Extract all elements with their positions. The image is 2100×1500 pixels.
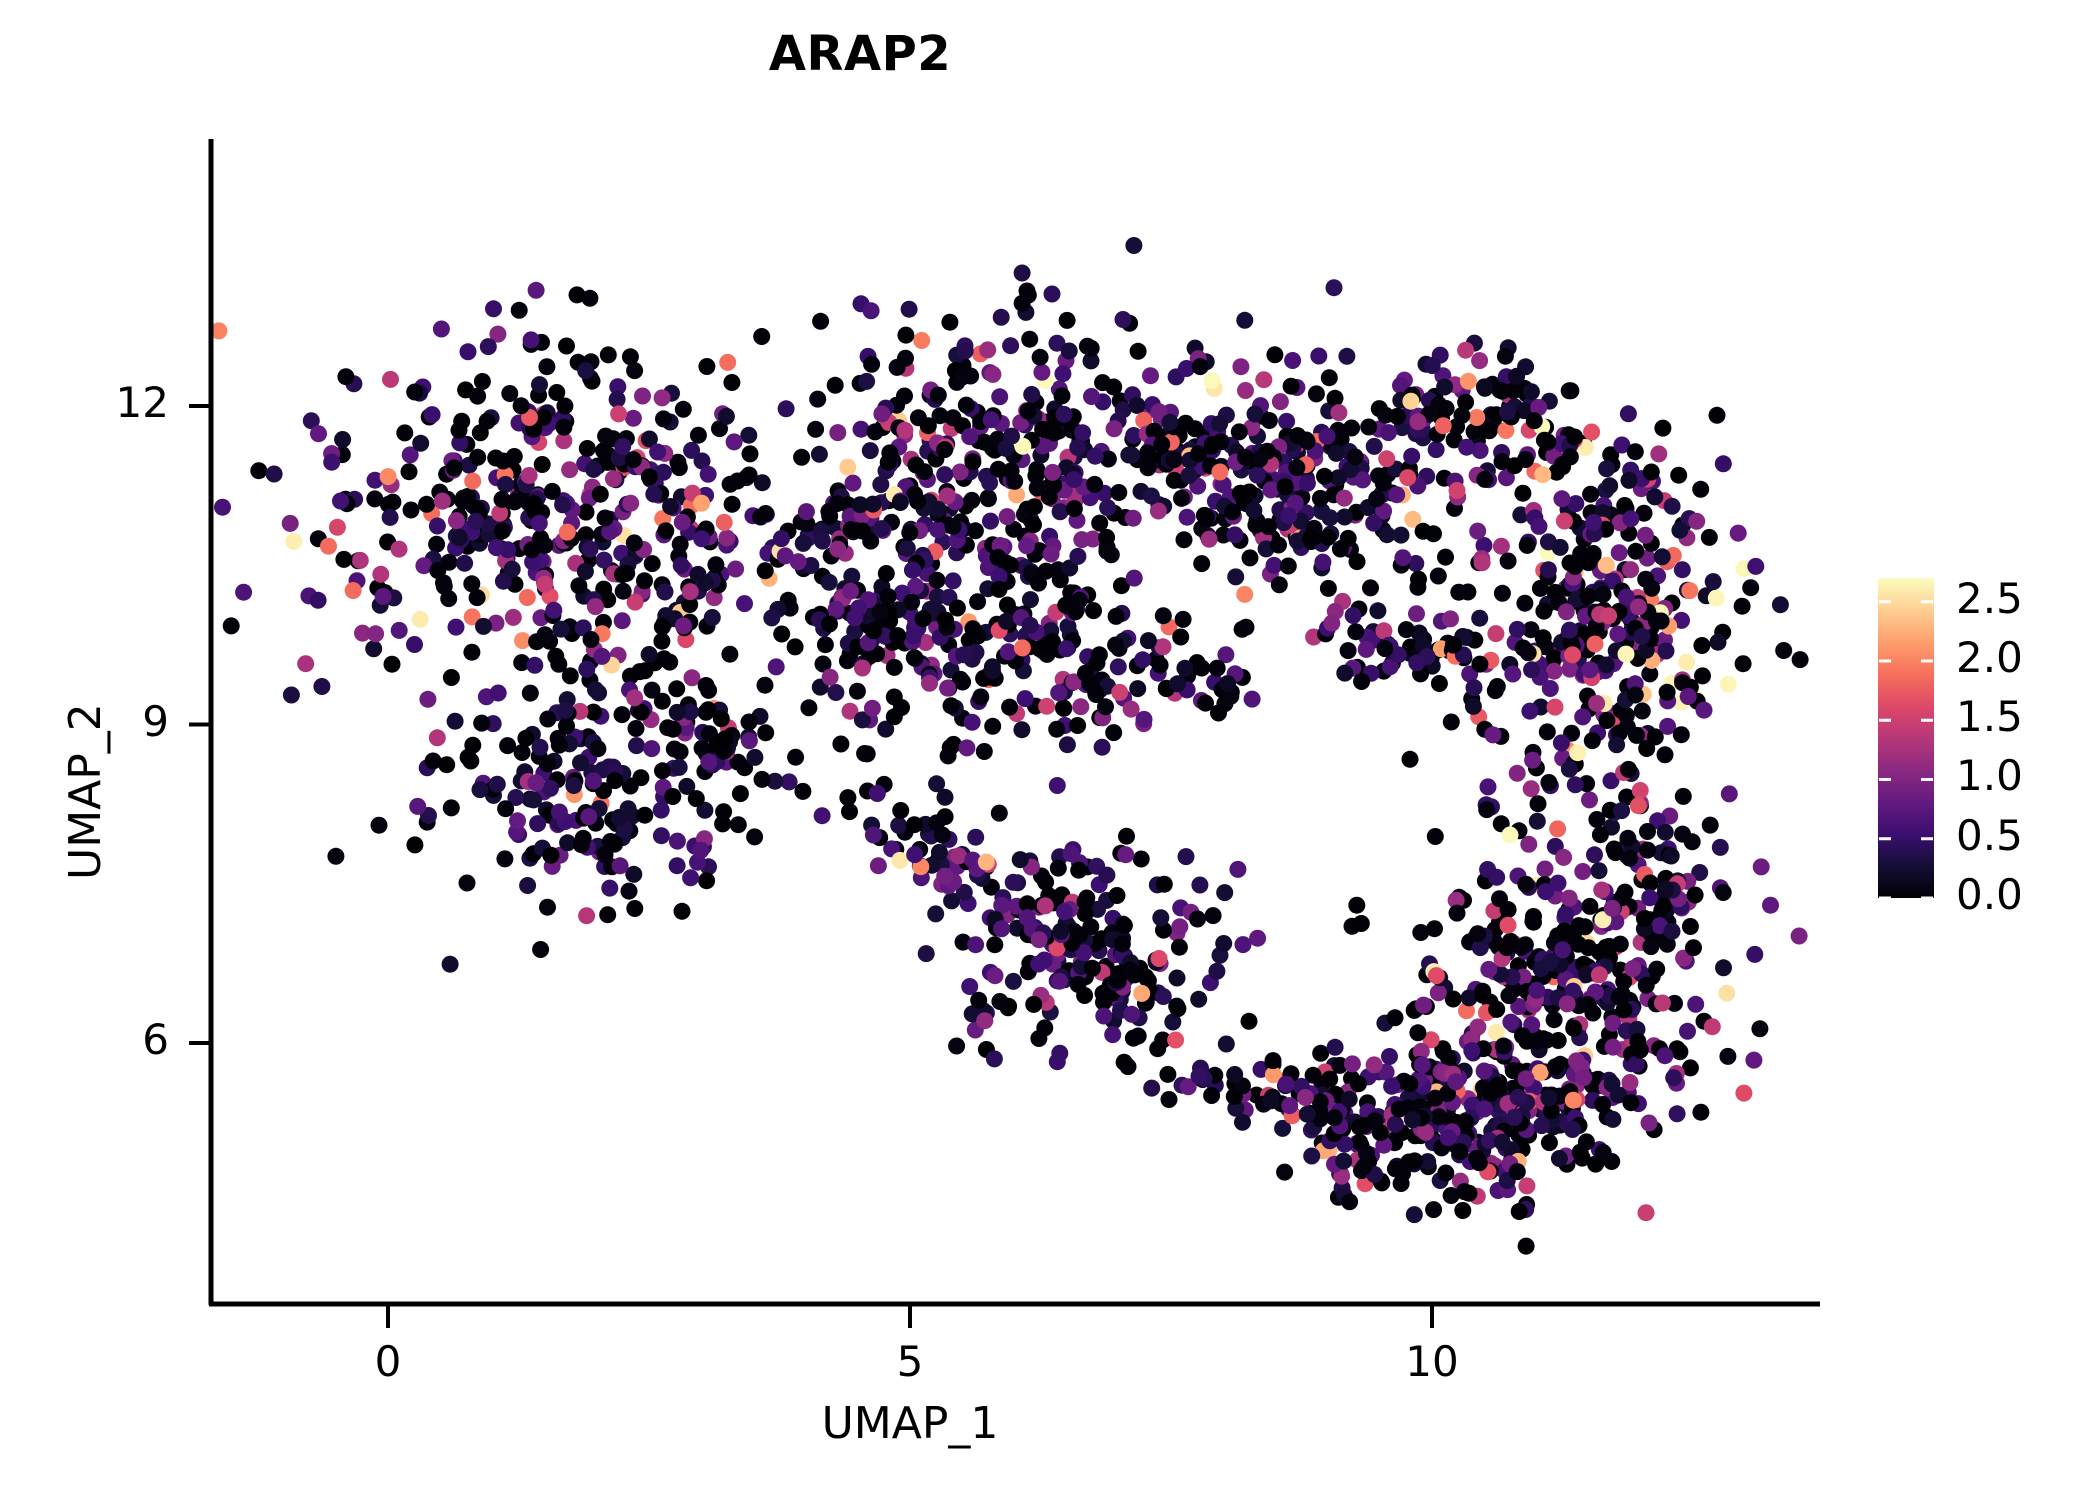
scatter-point — [682, 869, 699, 886]
scatter-point — [649, 444, 666, 461]
scatter-point — [1586, 846, 1603, 863]
scatter-point — [473, 715, 490, 732]
scatter-point — [897, 327, 914, 344]
scatter-point — [1437, 549, 1454, 566]
scatter-point — [587, 598, 604, 615]
scatter-point — [1299, 1106, 1316, 1123]
scatter-point — [863, 356, 880, 373]
scatter-point — [297, 655, 314, 672]
scatter-point — [1459, 584, 1476, 601]
scatter-point — [665, 721, 682, 738]
scatter-point — [513, 397, 530, 414]
scatter-point — [878, 565, 895, 582]
scatter-point — [489, 776, 506, 793]
scatter-point — [1604, 900, 1621, 917]
scatter-point — [940, 747, 957, 764]
scatter-point — [1191, 1068, 1208, 1085]
scatter-point — [460, 343, 477, 360]
scatter-point — [614, 438, 631, 455]
scatter-point — [1712, 839, 1729, 856]
scatter-point — [1479, 861, 1496, 878]
scatter-point — [506, 448, 523, 465]
scatter-point — [310, 425, 327, 442]
scatter-point — [1288, 459, 1305, 476]
scatter-point — [886, 689, 903, 706]
scatter-point — [688, 790, 705, 807]
scatter-point — [736, 595, 753, 612]
scatter-point — [632, 769, 649, 786]
scatter-point — [757, 677, 774, 694]
scatter-point — [538, 358, 555, 375]
scatter-point — [672, 536, 689, 553]
scatter-point — [313, 678, 330, 695]
scatter-point — [790, 553, 807, 570]
scatter-point — [572, 754, 589, 771]
scatter-point — [412, 611, 429, 628]
scatter-point — [1693, 637, 1710, 654]
scatter-point — [1066, 471, 1083, 488]
scatter-point — [1641, 889, 1658, 906]
scatter-point — [631, 663, 648, 680]
scatter-point — [662, 498, 679, 515]
scatter-point — [558, 338, 575, 355]
scatter-point — [1476, 378, 1493, 395]
scatter-point — [1408, 654, 1425, 671]
scatter-point — [821, 574, 838, 591]
scatter-point — [1657, 881, 1674, 898]
scatter-point — [896, 422, 913, 439]
scatter-point — [419, 691, 436, 708]
scatter-point — [1604, 1111, 1621, 1128]
scatter-point — [814, 807, 831, 824]
scatter-point — [839, 789, 856, 806]
scatter-point — [1530, 795, 1547, 812]
scatter-point — [1000, 643, 1017, 660]
scatter-point — [1341, 1091, 1358, 1108]
scatter-point — [1718, 985, 1735, 1002]
scatter-point — [690, 427, 707, 444]
scatter-point — [829, 424, 846, 441]
scatter-point — [1332, 541, 1349, 558]
scatter-point — [1485, 726, 1502, 743]
scatter-point — [1235, 936, 1252, 953]
scatter-point — [870, 857, 887, 874]
scatter-point — [583, 631, 600, 648]
scatter-point — [1425, 525, 1442, 542]
scatter-point — [569, 286, 586, 303]
scatter-point — [987, 967, 1004, 984]
scatter-point — [1211, 415, 1228, 432]
scatter-point — [1425, 1201, 1442, 1218]
scatter-point — [999, 508, 1016, 525]
scatter-point — [1152, 909, 1169, 926]
scatter-point — [610, 405, 627, 422]
scatter-point — [1347, 623, 1364, 640]
scatter-point — [525, 791, 542, 808]
scatter-point — [1762, 897, 1779, 914]
scatter-point — [1265, 1052, 1282, 1069]
scatter-point — [1673, 726, 1690, 743]
scatter-point — [1593, 882, 1610, 899]
scatter-point — [1261, 412, 1278, 429]
scatter-point — [945, 572, 962, 589]
scatter-point — [626, 534, 643, 551]
scatter-point — [1388, 486, 1405, 503]
scatter-point — [320, 538, 337, 555]
scatter-point — [869, 785, 886, 802]
scatter-point — [1747, 558, 1764, 575]
scatter-point — [1627, 543, 1644, 560]
scatter-point — [655, 410, 672, 427]
scatter-point — [1517, 451, 1534, 468]
scatter-point — [1152, 657, 1169, 674]
scatter-point — [1118, 828, 1135, 845]
scatter-point — [396, 424, 413, 441]
scatter-point — [1608, 736, 1625, 753]
scatter-point — [1398, 621, 1415, 638]
scatter-point — [1502, 1014, 1519, 1031]
scatter-point — [1014, 639, 1031, 656]
scatter-point — [741, 467, 758, 484]
scatter-point — [1150, 503, 1167, 520]
colorbar-tick-label: 2.5 — [1956, 574, 2023, 623]
scatter-point — [1280, 558, 1297, 575]
scatter-point — [654, 618, 671, 635]
scatter-point — [443, 669, 460, 686]
scatter-point — [1167, 1032, 1184, 1049]
scatter-point — [558, 718, 575, 735]
scatter-point — [700, 753, 717, 770]
scatter-point — [1097, 698, 1114, 715]
scatter-point — [814, 533, 831, 550]
scatter-point — [332, 493, 349, 510]
scatter-point — [1179, 509, 1196, 526]
scatter-point — [335, 551, 352, 568]
scatter-point — [982, 513, 999, 530]
scatter-point — [406, 636, 423, 653]
scatter-point — [936, 466, 953, 483]
scatter-point — [1735, 1085, 1752, 1102]
scatter-point — [964, 453, 981, 470]
scatter-point — [1085, 602, 1102, 619]
scatter-point — [671, 759, 688, 776]
scatter-point — [1276, 1164, 1293, 1181]
scatter-point — [1534, 466, 1551, 483]
scatter-point — [1430, 568, 1447, 585]
scatter-point — [754, 771, 771, 788]
scatter-point — [250, 462, 267, 479]
scatter-point — [552, 621, 569, 638]
scatter-point — [1561, 661, 1578, 678]
scatter-point — [1685, 939, 1702, 956]
scatter-point — [1056, 406, 1073, 423]
scatter-point — [1098, 867, 1115, 884]
scatter-point — [1456, 1183, 1473, 1200]
scatter-point — [1155, 988, 1172, 1005]
scatter-point — [1219, 675, 1236, 692]
scatter-point — [1595, 586, 1612, 603]
scatter-point — [1051, 973, 1068, 990]
scatter-point — [1701, 529, 1718, 546]
scatter-point — [1454, 1202, 1471, 1219]
scatter-point — [1438, 400, 1455, 417]
scatter-point — [1598, 460, 1615, 477]
scatter-point — [1201, 531, 1218, 548]
scatter-point — [1347, 448, 1364, 465]
scatter-point — [1125, 510, 1142, 527]
scatter-point — [904, 562, 921, 579]
scatter-point — [1227, 568, 1244, 585]
scatter-point — [1383, 1078, 1400, 1095]
scatter-point — [1639, 823, 1656, 840]
scatter-point — [846, 609, 863, 626]
scatter-point — [1204, 372, 1221, 389]
scatter-point — [1509, 1163, 1526, 1180]
scatter-point — [1710, 634, 1727, 651]
scatter-point — [1540, 774, 1557, 791]
scatter-point — [746, 828, 763, 845]
scatter-point — [740, 427, 757, 444]
scatter-point — [1081, 675, 1098, 692]
scatter-point — [1344, 918, 1361, 935]
scatter-point — [1663, 848, 1680, 865]
scatter-point — [1204, 436, 1221, 453]
scatter-point — [1639, 842, 1656, 859]
scatter-point — [1641, 1115, 1658, 1132]
scatter-point — [1043, 546, 1060, 563]
scatter-point — [528, 282, 545, 299]
scatter-point — [842, 583, 859, 600]
scatter-point — [1050, 684, 1067, 701]
scatter-point — [1355, 1117, 1372, 1134]
scatter-point — [700, 682, 717, 699]
scatter-point — [943, 697, 960, 714]
scatter-point — [1375, 622, 1392, 639]
scatter-point — [1508, 368, 1525, 385]
scatter-point — [700, 466, 717, 483]
scatter-point — [1528, 982, 1545, 999]
scatter-point — [872, 476, 889, 493]
scatter-point — [980, 489, 997, 506]
scatter-point — [673, 557, 690, 574]
scatter-point — [1232, 358, 1249, 375]
scatter-point — [927, 905, 944, 922]
scatter-point — [1277, 478, 1294, 495]
scatter-point — [1555, 849, 1572, 866]
scatter-point — [614, 706, 631, 723]
scatter-point — [967, 936, 984, 953]
scatter-point — [418, 496, 435, 513]
scatter-point — [1349, 553, 1366, 570]
scatter-point — [1646, 488, 1663, 505]
scatter-point — [1606, 841, 1623, 858]
scatter-point — [822, 669, 839, 686]
scatter-point — [1249, 930, 1266, 947]
scatter-point — [1320, 580, 1337, 597]
scatter-point — [448, 512, 465, 529]
scatter-point — [636, 572, 653, 589]
scatter-point — [907, 650, 924, 667]
scatter-point — [429, 562, 446, 579]
scatter-point — [499, 737, 516, 754]
scatter-point — [1166, 472, 1183, 489]
scatter-point — [1087, 448, 1104, 465]
scatter-point — [1226, 1066, 1243, 1083]
scatter-point — [526, 495, 543, 512]
scatter-point — [1474, 554, 1491, 571]
scatter-point — [1598, 657, 1615, 674]
scatter-point — [1166, 451, 1183, 468]
scatter-point — [811, 446, 828, 463]
x-axis-label: UMAP_1 — [0, 1398, 1820, 1449]
scatter-point — [1514, 485, 1531, 502]
scatter-point — [1098, 543, 1115, 560]
scatter-point — [446, 459, 463, 476]
scatter-point — [372, 566, 389, 583]
scatter-point — [1587, 636, 1604, 653]
scatter-point — [1569, 744, 1586, 761]
colorbar-tick-label: 1.0 — [1956, 751, 2023, 800]
scatter-point — [1678, 654, 1695, 671]
scatter-point — [1326, 279, 1343, 296]
scatter-point — [1142, 367, 1159, 384]
scatter-point — [1636, 910, 1653, 927]
scatter-point — [1244, 691, 1261, 708]
y-tick-label: 6 — [9, 1015, 169, 1064]
scatter-point — [1173, 490, 1190, 507]
scatter-point — [1191, 877, 1208, 894]
scatter-point — [1591, 966, 1608, 983]
scatter-point — [1559, 995, 1576, 1012]
scatter-point — [1236, 586, 1253, 603]
scatter-point — [908, 457, 925, 474]
scatter-point — [713, 710, 730, 727]
scatter-point — [1480, 961, 1497, 978]
scatter-point — [565, 777, 582, 794]
scatter-point — [1500, 987, 1517, 1004]
scatter-point — [534, 456, 551, 473]
scatter-point — [1326, 1109, 1343, 1126]
scatter-point — [463, 644, 480, 661]
scatter-point — [451, 529, 468, 546]
scatter-point — [1190, 445, 1207, 462]
scatter-point — [505, 609, 522, 626]
scatter-point — [963, 492, 980, 509]
scatter-point — [522, 685, 539, 702]
scatter-point — [1634, 703, 1651, 720]
scatter-point — [1136, 711, 1153, 728]
scatter-point — [906, 846, 923, 863]
scatter-point — [1226, 526, 1243, 543]
scatter-point — [930, 387, 947, 404]
scatter-point — [1489, 1077, 1506, 1094]
scatter-point — [1517, 936, 1534, 953]
scatter-point — [223, 617, 240, 634]
scatter-point — [1630, 797, 1647, 814]
scatter-point — [1171, 918, 1188, 935]
scatter-point — [1500, 917, 1517, 934]
scatter-point — [669, 833, 686, 850]
scatter-point — [1151, 950, 1168, 967]
scatter-point — [1553, 490, 1570, 507]
scatter-point — [1343, 420, 1360, 437]
scatter-point — [1632, 782, 1649, 799]
scatter-point — [881, 444, 898, 461]
scatter-point — [693, 530, 710, 547]
scatter-point — [523, 331, 540, 348]
scatter-point — [675, 401, 692, 418]
scatter-point — [1431, 675, 1448, 692]
scatter-point — [757, 724, 774, 741]
scatter-point — [1526, 412, 1543, 429]
scatter-point — [559, 524, 576, 541]
scatter-point — [504, 561, 521, 578]
scatter-point — [1531, 518, 1548, 535]
scatter-point — [654, 762, 671, 779]
scatter-point — [1742, 579, 1759, 596]
scatter-point — [1574, 708, 1591, 725]
scatter-point — [1675, 788, 1692, 805]
scatter-point — [1350, 1075, 1367, 1092]
scatter-point — [1537, 861, 1554, 878]
scatter-point — [1231, 423, 1248, 440]
scatter-point — [1449, 905, 1466, 922]
scatter-point — [1518, 1070, 1535, 1087]
scatter-point — [1327, 1039, 1344, 1056]
scatter-point — [1656, 1047, 1673, 1064]
scatter-point — [162, 552, 179, 569]
scatter-point — [1169, 675, 1186, 692]
scatter-point — [1471, 610, 1488, 627]
scatter-point — [978, 854, 995, 871]
scatter-point — [517, 730, 534, 747]
scatter-point — [1176, 531, 1193, 548]
scatter-point — [1281, 1097, 1298, 1114]
scatter-point — [1664, 923, 1681, 940]
scatter-point — [634, 388, 651, 405]
scatter-point — [1033, 364, 1050, 381]
scatter-point — [1262, 481, 1279, 498]
scatter-point — [828, 601, 845, 618]
scatter-point — [873, 520, 890, 537]
scatter-point — [913, 332, 930, 349]
scatter-point — [1319, 428, 1336, 445]
scatter-point — [1336, 509, 1353, 526]
scatter-point — [1013, 721, 1030, 738]
scatter-point — [1558, 603, 1575, 620]
scatter-point — [986, 1050, 1003, 1067]
scatter-point — [1570, 917, 1587, 934]
scatter-point — [1340, 642, 1357, 659]
scatter-point — [1622, 510, 1639, 527]
scatter-point — [1083, 388, 1100, 405]
scatter-point — [827, 684, 844, 701]
scatter-point — [1215, 935, 1232, 952]
scatter-point — [716, 514, 733, 531]
scatter-point — [717, 730, 734, 747]
scatter-point — [440, 590, 457, 607]
scatter-point — [915, 610, 932, 627]
scatter-point — [1038, 563, 1055, 580]
scatter-point — [612, 857, 629, 874]
scatter-point — [669, 704, 686, 721]
scatter-point — [1539, 723, 1556, 740]
scatter-point — [1156, 876, 1173, 893]
scatter-point — [718, 530, 735, 547]
scatter-point — [1211, 464, 1228, 481]
scatter-point — [460, 749, 477, 766]
scatter-point — [1303, 1148, 1320, 1165]
